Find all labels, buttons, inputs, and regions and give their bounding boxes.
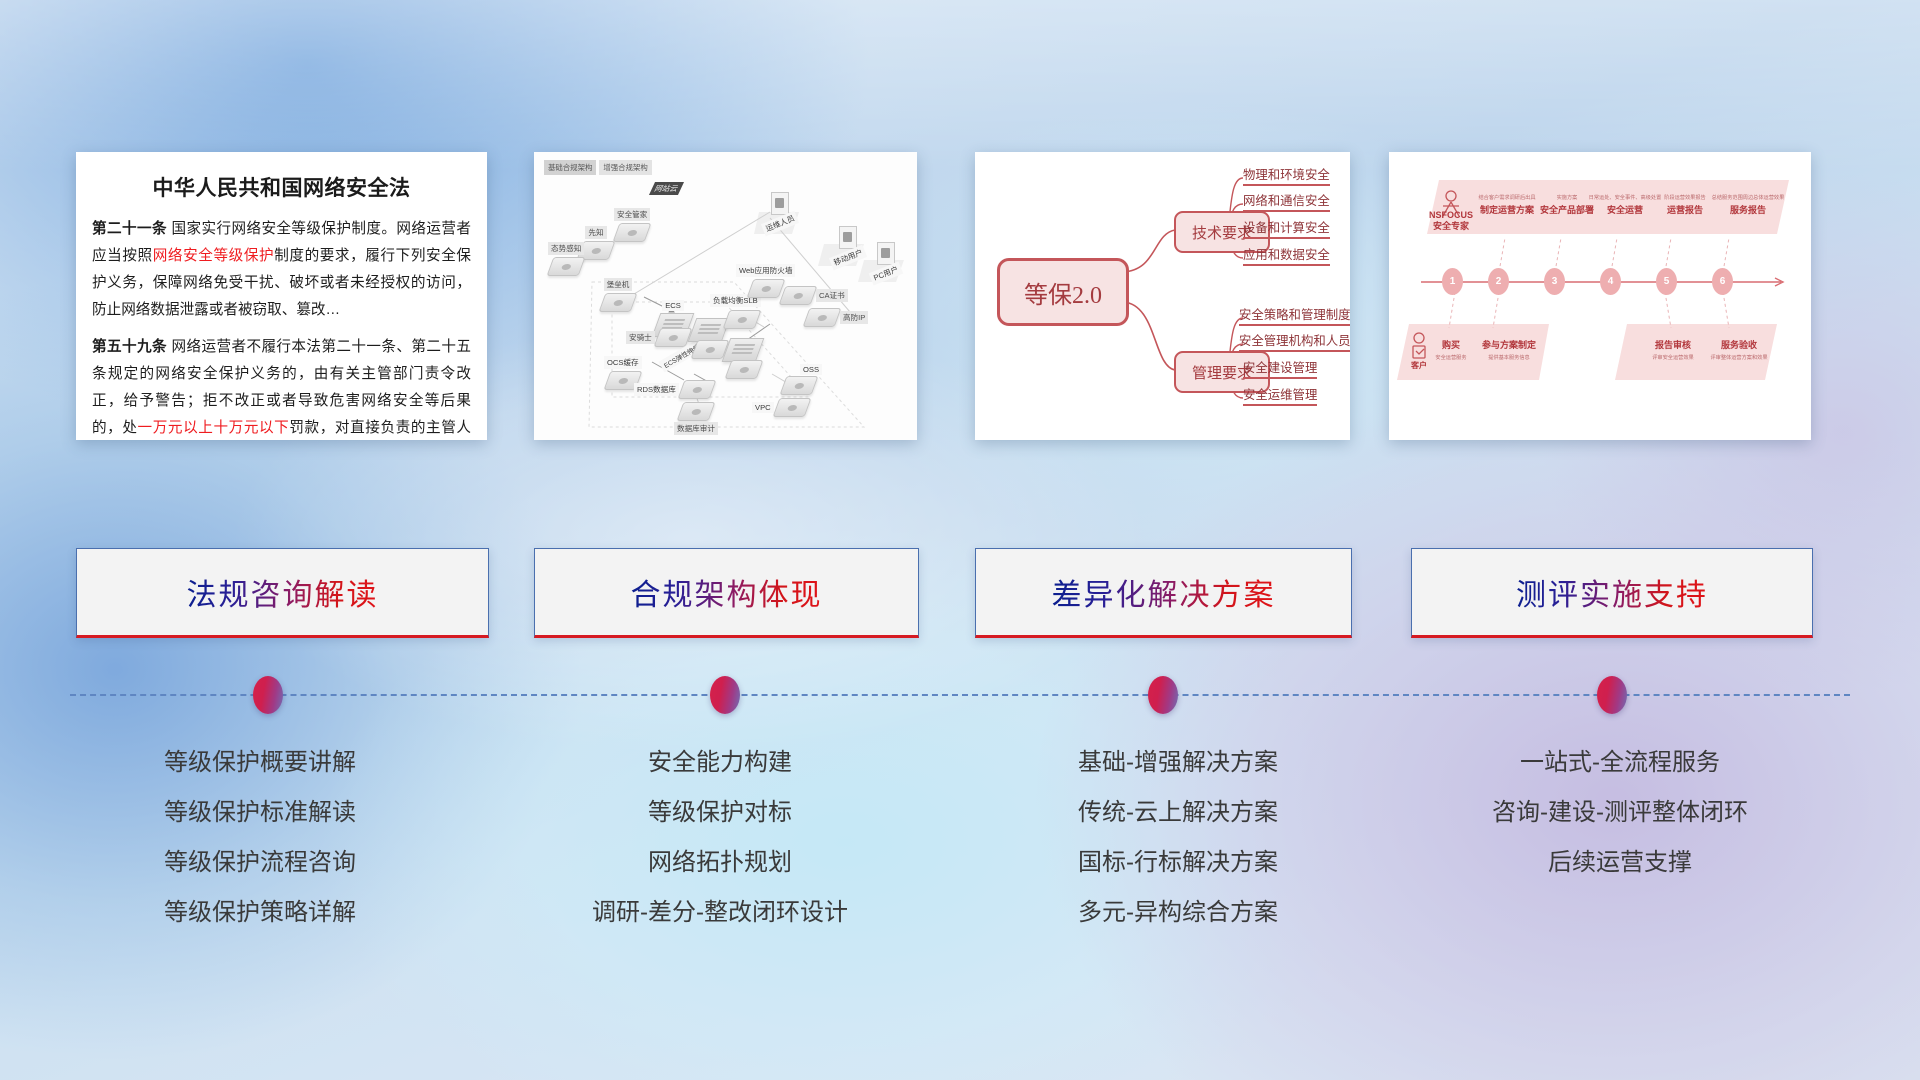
node-icon [771, 192, 789, 215]
timeline-bottom-step-1: 购买 安全运营服务 [1427, 338, 1475, 363]
timeline-marker-3[interactable] [1148, 676, 1178, 714]
mindmap-card: 等保2.0 技术要求 管理要求 物理和环境安全 网络和通信安全 设备和计算安全 … [975, 152, 1350, 440]
timeline-step-number[interactable]: 6 [1712, 268, 1733, 295]
timeline-marker-4[interactable] [1597, 676, 1627, 714]
timeline-marker-1[interactable] [253, 676, 283, 714]
step-main: 参与方案制定 [1471, 338, 1547, 351]
node-label: CA证书 [816, 289, 848, 302]
architecture-card: 基础合规架构 增强合规架构 [534, 152, 917, 440]
node-icon [677, 402, 716, 421]
list-item: 国标-行标解决方案 [958, 838, 1398, 888]
column-title-box-4[interactable]: 测评实施支持 [1411, 548, 1813, 638]
timeline-top-step-6: 总结服务范围周边总体运营效果 服务报告 [1707, 194, 1789, 216]
nsfocus-timeline: NSFOCUS 安全专家 客户 结合客户需求调研后出具 制定运营方案 实施方案 … [1389, 152, 1811, 440]
column-list-1: 等级保护概要讲解 等级保护标准解读 等级保护流程咨询 等级保护策略详解 [40, 738, 480, 938]
list-item: 一站式-全流程服务 [1400, 738, 1840, 788]
step-sub: 提供基本服务信息 [1471, 354, 1547, 361]
mindmap-leaf[interactable]: 安全策略和管理制度 [1239, 305, 1350, 326]
column-title-text: 差异化解决方案 [1052, 570, 1276, 614]
step-sub: 评审整体运营方案和效果 [1699, 354, 1779, 361]
list-item: 安全能力构建 [500, 738, 940, 788]
node-icon [613, 223, 652, 242]
node-label: OCS缓存 [604, 356, 642, 369]
list-item: 多元-异构综合方案 [958, 888, 1398, 938]
node-icon [779, 286, 818, 305]
list-item: 调研-差分-整改闭环设计 [500, 888, 940, 938]
column-title-box-1[interactable]: 法规咨询解读 [76, 548, 489, 638]
law-title: 中华人民共和国网络安全法 [92, 172, 471, 202]
nsfocus-timeline-card: NSFOCUS 安全专家 客户 结合客户需求调研后出具 制定运营方案 实施方案 … [1389, 152, 1811, 440]
timeline-step-number[interactable]: 3 [1544, 268, 1565, 295]
node-vpc: VPC [752, 398, 808, 417]
step-main: 服务验收 [1699, 338, 1779, 351]
list-item: 等级保护流程咨询 [40, 838, 480, 888]
node-label: 态势感知 [548, 242, 584, 255]
timeline-marker-2[interactable] [710, 676, 740, 714]
node-rds-database: RDS数据库 [634, 380, 713, 399]
list-item: 等级保护对标 [500, 788, 940, 838]
node-label: 高防IP [840, 311, 868, 324]
node-icon [746, 279, 785, 298]
node-label: VPC [752, 402, 774, 413]
law-card: 中华人民共和国网络安全法 第二十一条 国家实行网络安全等级保护制度。网络运营者应… [76, 152, 487, 440]
node-icon [877, 242, 895, 265]
node-label: 数据库审计 [674, 422, 718, 435]
step-main: 购买 [1427, 338, 1475, 351]
list-item: 传统-云上解决方案 [958, 788, 1398, 838]
node-icon [839, 226, 857, 249]
node-label: 堡垒机 [604, 278, 633, 291]
node-label: Web应用防火墙 [736, 264, 795, 277]
mindmap-leaf[interactable]: 安全建设管理 [1243, 358, 1317, 379]
node-db-audit: 数据库审计 [674, 402, 718, 435]
mindmap-leaf[interactable]: 安全运维管理 [1243, 385, 1317, 406]
node-label: ECS [662, 300, 684, 311]
node-ca-cert: CA证书 [782, 286, 848, 305]
list-item: 等级保护标准解读 [40, 788, 480, 838]
node-icon [772, 398, 811, 417]
list-item: 等级保护概要讲解 [40, 738, 480, 788]
law-highlight: 一万元以上十万元以下 [138, 420, 290, 436]
law-article-label-59: 第五十九条 [92, 339, 167, 355]
node-label: 先知 [585, 226, 606, 239]
step-sub: 安全运营服务 [1427, 354, 1475, 361]
mindmap-root-node[interactable]: 等保2.0 [997, 258, 1129, 326]
timeline-step-number[interactable]: 4 [1600, 268, 1621, 295]
node-slb: 负载均衡SLB [710, 294, 761, 329]
node-situation-awareness: 态势感知 [548, 242, 584, 276]
mindmap-leaf[interactable]: 网络和通信安全 [1243, 191, 1330, 212]
law-paragraph-21: 第二十一条 国家实行网络安全等级保护制度。网络运营者应当按照网络安全等级保护制度… [92, 216, 471, 324]
column-title-text: 合规架构体现 [631, 570, 823, 614]
node-label: OSS [800, 364, 822, 375]
list-item: 网络拓扑规划 [500, 838, 940, 888]
mindmap-leaf[interactable]: 安全管理机构和人员 [1239, 331, 1350, 352]
law-highlight: 网络安全等级保护 [153, 248, 274, 264]
node-xianzhi: 先知 [580, 226, 612, 260]
node-icon [547, 257, 586, 276]
node-label: 安全管家 [614, 208, 650, 221]
column-list-2: 安全能力构建 等级保护对标 网络拓扑规划 调研-差分-整改闭环设计 [500, 738, 940, 938]
step-main: 服务报告 [1707, 203, 1789, 216]
node-bastion-host: 堡垒机 [602, 278, 634, 312]
step-sub: 总结服务范围周边总体运营效果 [1707, 194, 1789, 201]
list-item: 后续运营支撑 [1400, 838, 1840, 888]
node-pc-user: PC用户 [870, 242, 902, 280]
column-list-3: 基础-增强解决方案 传统-云上解决方案 国标-行标解决方案 多元-异构综合方案 [958, 738, 1398, 938]
list-item: 等级保护策略详解 [40, 888, 480, 938]
list-item: 咨询-建设-测评整体闭环 [1400, 788, 1840, 838]
column-title-text: 测评实施支持 [1516, 570, 1708, 614]
column-title-text: 法规咨询解读 [187, 570, 379, 614]
mindmap-leaf[interactable]: 设备和计算安全 [1243, 218, 1330, 239]
node-website-cloud: 网站云 [652, 182, 681, 195]
node-icon [723, 310, 762, 329]
node-ops-personnel: 运维人员 [762, 192, 798, 230]
column-title-box-3[interactable]: 差异化解决方案 [975, 548, 1352, 638]
node-security-butler: 安全管家 [614, 208, 650, 242]
node-icon [677, 380, 716, 399]
law-card-body: 中华人民共和国网络安全法 第二十一条 国家实行网络安全等级保护制度。网络运营者应… [76, 152, 487, 440]
timeline-step-number[interactable]: 1 [1442, 268, 1463, 295]
node-anqishi: 安骑士 [626, 328, 689, 347]
law-paragraph-59: 第五十九条 网络运营者不履行本法第二十一条、第二十五条规定的网络安全保护义务的，… [92, 334, 471, 440]
node-icon [803, 308, 842, 327]
timeline-step-number[interactable]: 5 [1656, 268, 1677, 295]
node-label: RDS数据库 [634, 383, 679, 396]
node-icon [599, 293, 638, 312]
timeline-bottom-step-6: 服务验收 评审整体运营方案和效果 [1699, 338, 1779, 363]
law-article-label-21: 第二十一条 [92, 221, 167, 237]
node-oss: OSS [776, 364, 822, 395]
node-icon [653, 328, 692, 347]
mindmap-leaf[interactable]: 物理和环境安全 [1243, 165, 1330, 186]
node-label: 安骑士 [626, 331, 655, 344]
node-mobile-user: 移动用户 [830, 226, 866, 264]
column-title-box-2[interactable]: 合规架构体现 [534, 548, 919, 638]
mindmap: 等保2.0 技术要求 管理要求 物理和环境安全 网络和通信安全 设备和计算安全 … [975, 152, 1350, 440]
node-label: 网站云 [649, 182, 684, 195]
mindmap-leaf[interactable]: 应用和数据安全 [1243, 245, 1330, 266]
timeline-step-number[interactable]: 2 [1488, 268, 1509, 295]
architecture-diagram: 基础合规架构 增强合规架构 [534, 152, 917, 440]
list-item: 基础-增强解决方案 [958, 738, 1398, 788]
timeline-bottom-step-2: 参与方案制定 提供基本服务信息 [1471, 338, 1547, 363]
timeline-dashed-line [70, 694, 1850, 696]
node-icon [780, 376, 819, 395]
node-anti-ddos-ip: 高防IP [806, 308, 868, 327]
column-list-4: 一站式-全流程服务 咨询-建设-测评整体闭环 后续运营支撑 [1400, 738, 1840, 888]
